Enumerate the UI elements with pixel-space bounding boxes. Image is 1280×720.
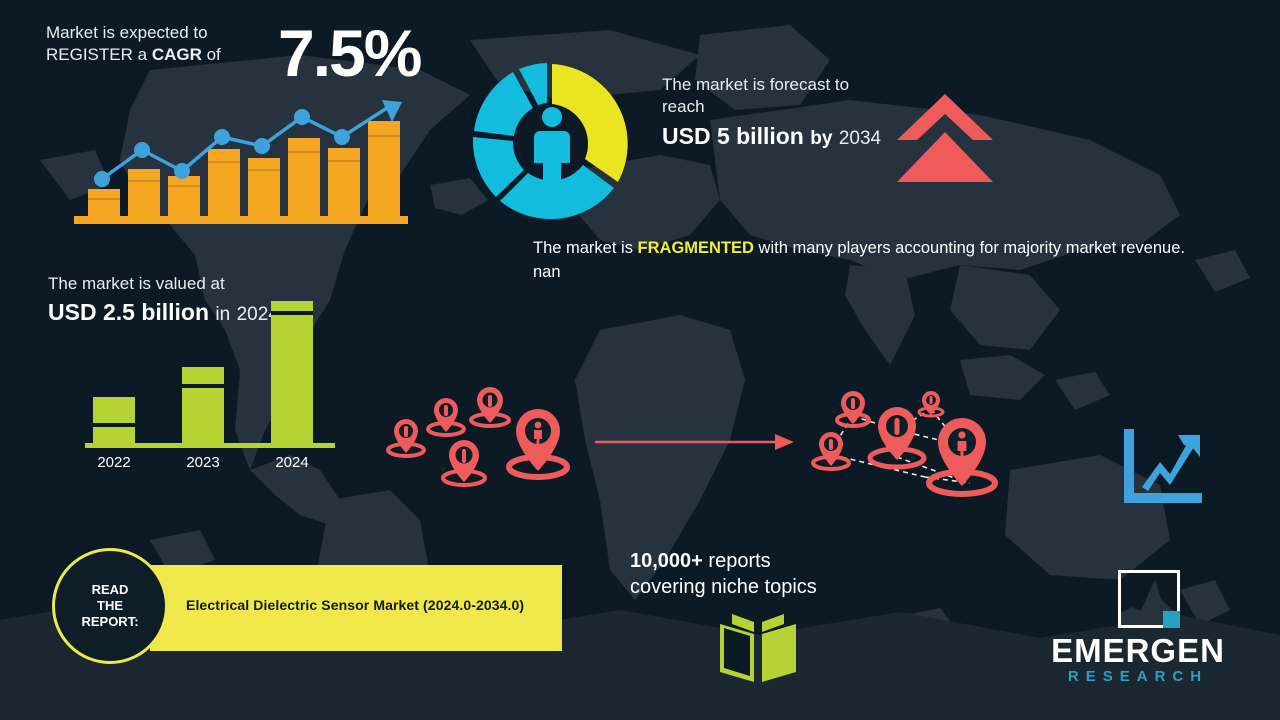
logo-square-mark (1118, 570, 1180, 628)
forecast-value: USD 5 billion (662, 123, 804, 149)
cagr-caption-suffix: of (202, 45, 221, 64)
cagr-caption-bold: CAGR (152, 45, 202, 64)
logo-subtitle: RESEARCH (1022, 668, 1254, 685)
cagr-caption-line1: Market is expected to (46, 22, 264, 44)
emergen-research-logo: EMERGEN RESEARCH (1022, 570, 1254, 695)
forecast-value-row: USD 5 billion by 2034 (662, 122, 912, 153)
reports-count: 10,000+ (630, 550, 703, 572)
forecast-caption-line1: The market is forecast to (662, 74, 912, 96)
cagr-value: 7.5% (278, 10, 420, 96)
growth-chart-icon (62, 86, 414, 226)
reports-count-block: 10,000+ reports covering niche topics (630, 548, 890, 600)
valuation-bar-chart: 2022 2023 2024 (85, 295, 335, 470)
logo-accent-corner (1163, 611, 1180, 628)
infographic-canvas: Market is expected to REGISTER a CAGR of… (0, 0, 1280, 720)
cagr-caption: Market is expected to REGISTER a CAGR of (46, 22, 264, 66)
trend-line-icon (1120, 425, 1206, 511)
map-pins-network-icon (805, 385, 1015, 500)
bar-label-2024: 2024 (275, 454, 308, 470)
logo-wordmark: EMERGEN (1022, 632, 1254, 670)
bar-label-2022: 2022 (97, 454, 130, 470)
fragmented-pre: The market is (533, 239, 638, 257)
map-pins-scattered-icon (382, 385, 578, 495)
read-the-report-badge[interactable]: READTHEREPORT: (52, 548, 168, 664)
cagr-caption-line2: REGISTER a CAGR of (46, 44, 264, 66)
fragmented-statement: The market is FRAGMENTED with many playe… (533, 236, 1213, 284)
valuation-caption: The market is valued at (48, 273, 358, 295)
donut-chart-icon (466, 58, 638, 230)
forecast-by-label: by (810, 128, 832, 149)
up-chevrons-icon (895, 92, 995, 184)
reports-subline: covering niche topics (630, 574, 890, 600)
report-title: Electrical Dielectric Sensor Market (202… (186, 597, 546, 613)
open-book-icon (718, 612, 798, 684)
reports-count-line: 10,000+ reports (630, 548, 890, 574)
read-the-report-label: READTHEREPORT: (81, 582, 138, 630)
fragmented-highlight: FRAGMENTED (638, 239, 754, 257)
right-arrow-icon (595, 432, 795, 452)
forecast-year: 2034 (839, 128, 881, 149)
cagr-block: Market is expected to REGISTER a CAGR of… (46, 22, 466, 66)
person-icon (534, 107, 570, 187)
forecast-block: The market is forecast to reach USD 5 bi… (662, 74, 912, 153)
cagr-caption-prefix: REGISTER a (46, 45, 152, 64)
reports-count-suffix: reports (703, 550, 771, 572)
forecast-caption-line2: reach (662, 96, 912, 118)
bar-label-2023: 2023 (186, 454, 219, 470)
